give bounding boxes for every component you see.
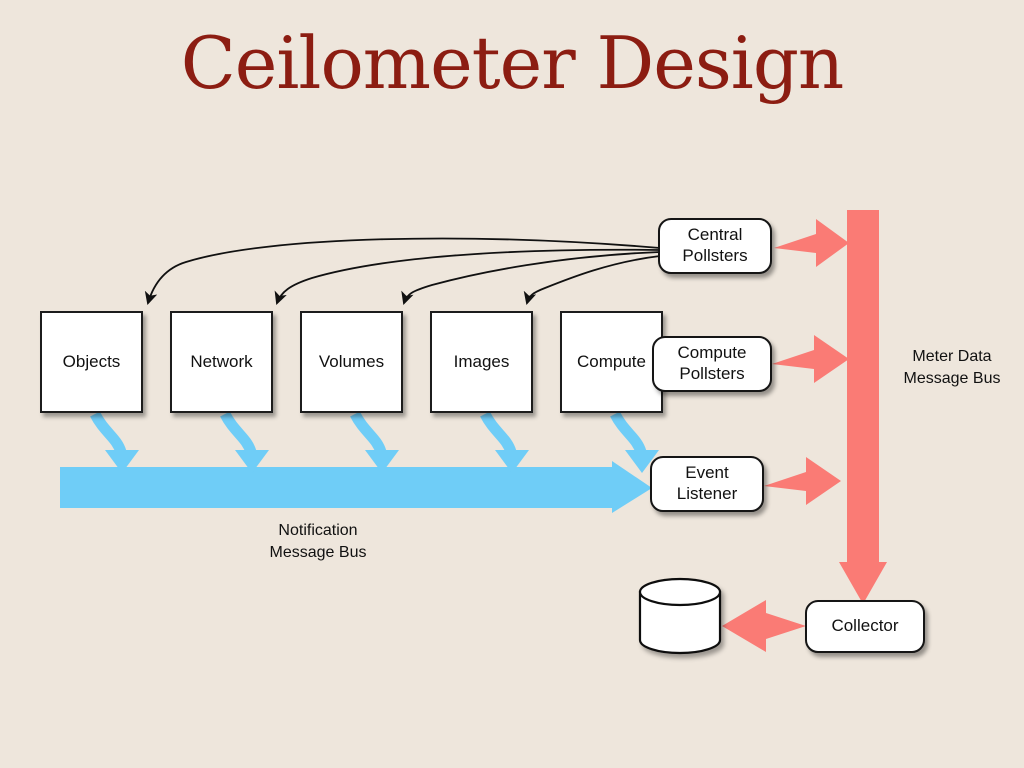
notification-bus-arrow (60, 461, 652, 513)
component-label: Compute Pollsters (678, 343, 747, 384)
resource-box-label: Objects (63, 352, 121, 372)
component-event-listener[interactable]: Event Listener (650, 456, 764, 512)
component-compute-pollsters[interactable]: Compute Pollsters (652, 336, 772, 392)
resource-box-network[interactable]: Network (170, 311, 273, 413)
resource-to-notification-arrows (95, 414, 641, 452)
notification-bus-label: Notification Message Bus (218, 520, 418, 563)
resource-box-label: Volumes (319, 352, 384, 372)
component-central-pollsters[interactable]: Central Pollsters (658, 218, 772, 274)
slide-canvas: Ceilometer Design (0, 0, 1024, 768)
resource-box-compute[interactable]: Compute (560, 311, 663, 413)
component-label: Event Listener (677, 463, 737, 504)
resource-box-volumes[interactable]: Volumes (300, 311, 403, 413)
component-collector[interactable]: Collector (805, 600, 925, 653)
resource-box-label: Images (454, 352, 510, 372)
meter-data-bus-arrow (839, 210, 887, 604)
resource-box-label: Network (190, 352, 252, 372)
resource-box-label: Compute (577, 352, 646, 372)
database-cylinder-shape (640, 579, 720, 653)
component-label: Collector (831, 616, 898, 637)
resource-box-images[interactable]: Images (430, 311, 533, 413)
resource-box-objects[interactable]: Objects (40, 311, 143, 413)
pollster-to-meterbus-arrows (764, 219, 849, 505)
central-pollster-connectors (148, 239, 660, 303)
meter-data-bus-label: Meter Data Message Bus (882, 346, 1022, 389)
collector-to-database-arrow (722, 600, 806, 652)
component-label: Central Pollsters (682, 225, 747, 266)
